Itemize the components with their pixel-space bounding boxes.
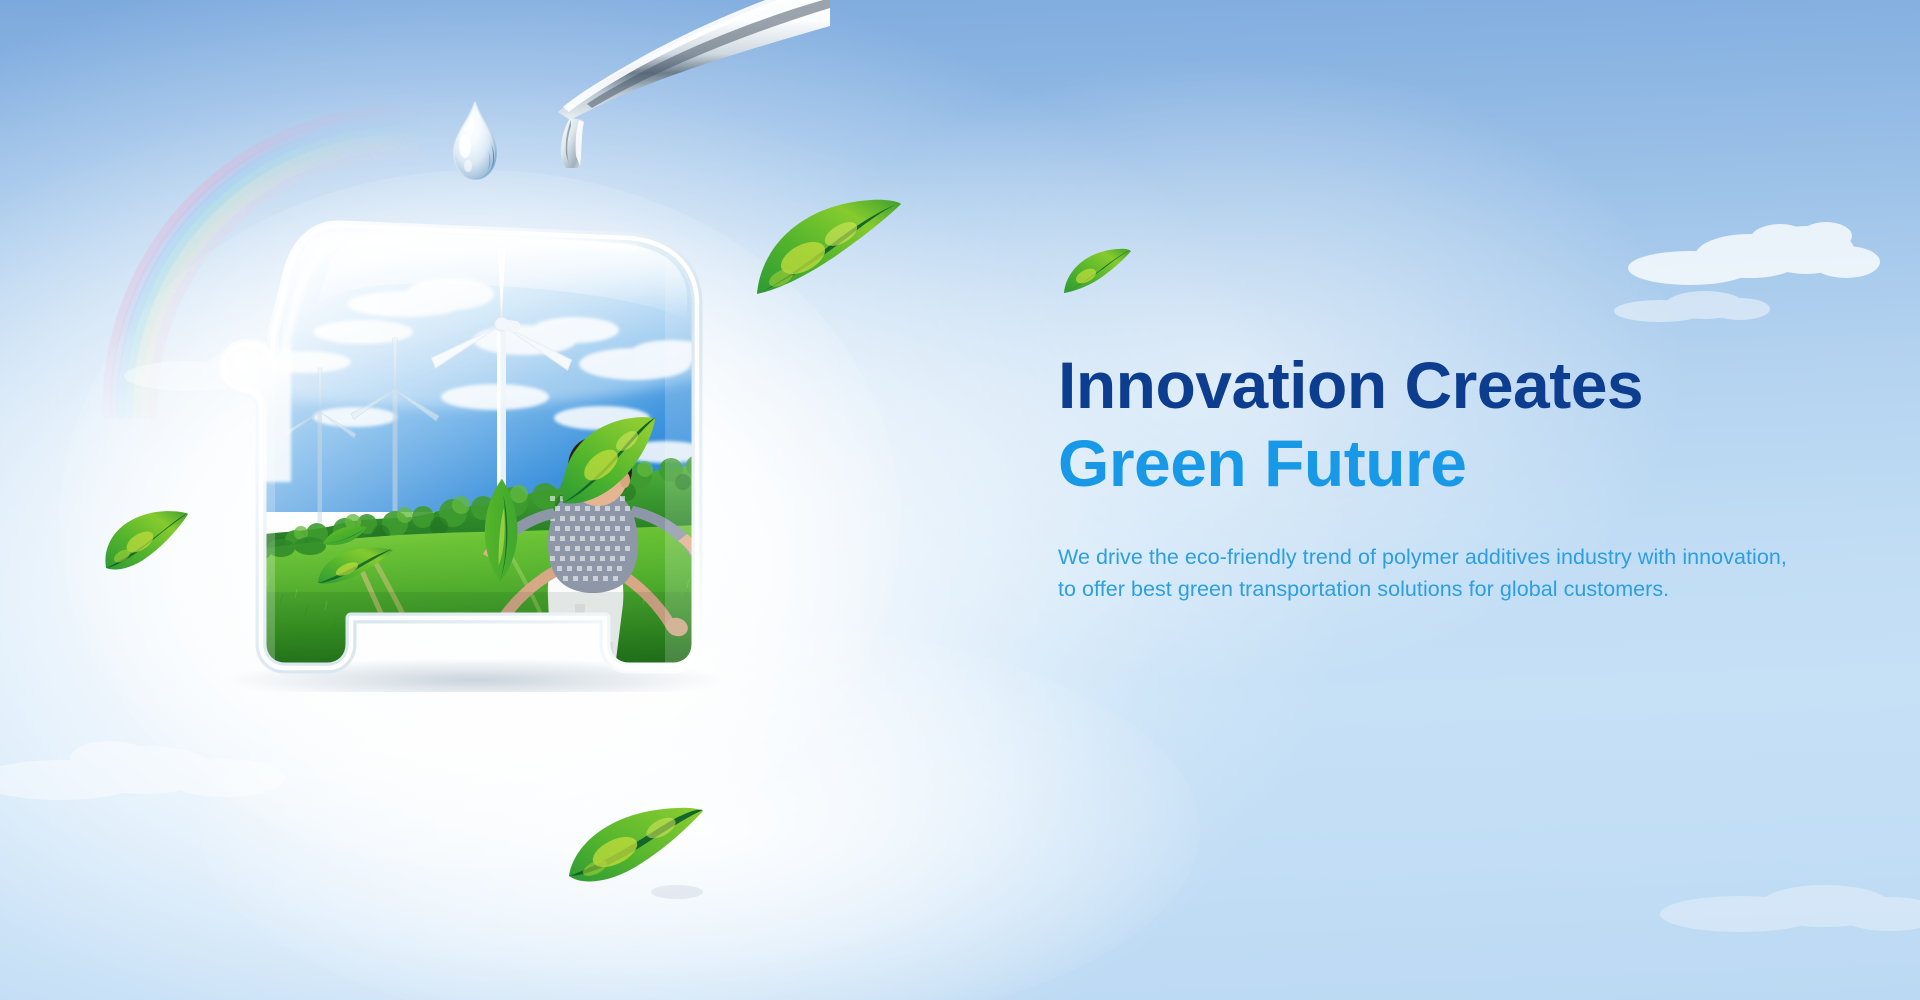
glass-car-silhouette	[105, 212, 805, 692]
leaf-icon-bottom	[565, 800, 707, 906]
water-droplet-icon	[444, 100, 506, 182]
headline-line-1: Innovation Creates	[1058, 352, 1818, 418]
cloud-bottom-right	[1650, 860, 1920, 940]
hero-body-text: We drive the eco-friendly trend of polym…	[1058, 542, 1788, 606]
cloud-top-right-2	[1610, 275, 1780, 330]
hero-banner: Innovation Creates Green Future We drive…	[0, 0, 1920, 1000]
leaf-icon-right	[1060, 245, 1132, 299]
cloud-top-right	[1620, 210, 1880, 300]
headline-line-2: Green Future	[1058, 428, 1818, 499]
hero-text-block: Innovation Creates Green Future We drive…	[1058, 352, 1818, 606]
cloud-bottom-left	[0, 720, 310, 810]
